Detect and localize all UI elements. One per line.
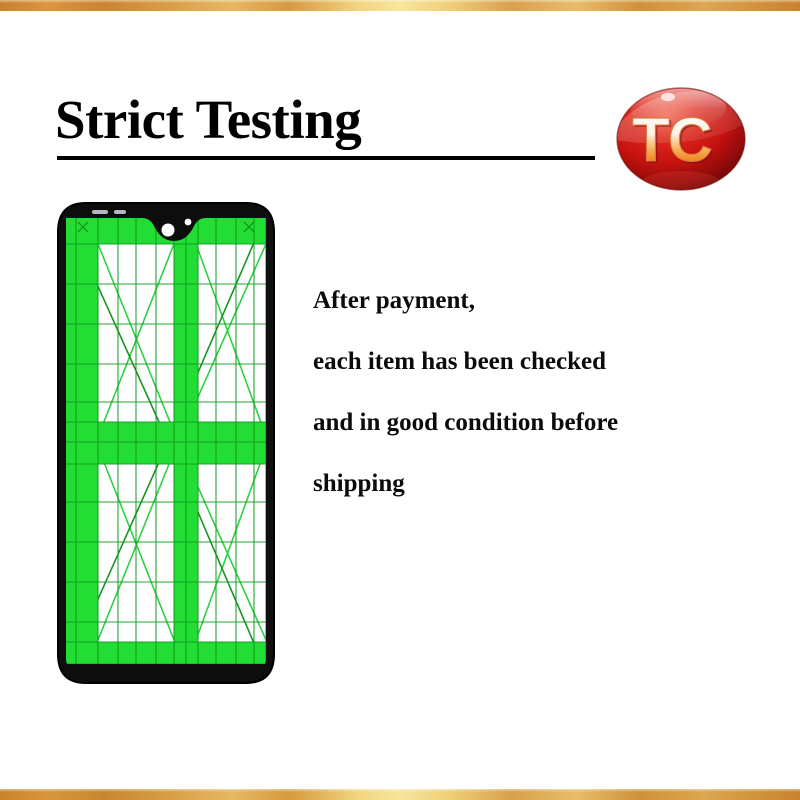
- product-banner-page: Strict Testing: [0, 0, 800, 800]
- blurb-line-2: each item has been checked: [313, 349, 753, 374]
- gold-bar-top: [0, 0, 800, 11]
- gold-bar-bottom: [0, 789, 800, 800]
- svg-text:TC: TC: [632, 106, 712, 175]
- blurb-line-3: and in good condition before: [313, 410, 753, 435]
- phone-screen-grid-icon: [56, 202, 276, 684]
- tc-logo: TC TC: [616, 87, 746, 191]
- title-underline-rule: [57, 156, 595, 160]
- blurb-line-1: After payment,: [313, 288, 753, 313]
- tc-logo-sphere-icon: TC TC: [616, 87, 746, 191]
- phone-test-image: [56, 202, 276, 684]
- blurb-line-4: shipping: [313, 471, 753, 496]
- blurb-text: After payment, each item has been checke…: [313, 288, 753, 496]
- page-title: Strict Testing: [55, 88, 361, 151]
